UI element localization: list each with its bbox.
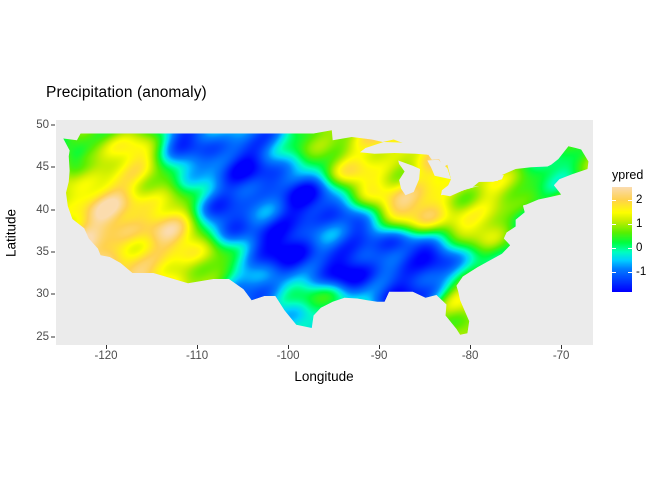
y-tick-label: 50 bbox=[16, 119, 49, 131]
y-tick-label: 40 bbox=[16, 204, 49, 216]
legend-tick-label: 1 bbox=[636, 218, 642, 230]
y-tick-mark bbox=[51, 294, 55, 295]
legend-tick-label: 0 bbox=[636, 242, 642, 254]
x-tick-label: -120 bbox=[95, 350, 118, 362]
legend-tick-mark bbox=[612, 248, 616, 249]
y-axis-title: Latitude bbox=[0, 120, 22, 345]
y-tick-label: 30 bbox=[16, 288, 49, 300]
x-tick-mark bbox=[470, 345, 471, 349]
x-tick-mark bbox=[197, 345, 198, 349]
map-panel bbox=[56, 120, 593, 345]
legend-tick-mark bbox=[628, 248, 632, 249]
x-axis-title-label: Longitude bbox=[294, 369, 353, 384]
y-tick-label: 25 bbox=[16, 331, 49, 343]
legend-tick-mark bbox=[612, 224, 616, 225]
x-tick-label: -110 bbox=[186, 350, 208, 362]
plot-canvas: Precipitation (anomaly) Latitude 2530354… bbox=[0, 0, 672, 480]
x-tick-label: -100 bbox=[277, 350, 300, 362]
x-tick-mark bbox=[561, 345, 562, 349]
legend-tick-label: 2 bbox=[636, 194, 642, 206]
legend-tick-mark bbox=[628, 224, 632, 225]
legend-tick-label: -1 bbox=[636, 266, 646, 278]
y-tick-mark bbox=[51, 125, 55, 126]
legend-title: ypred bbox=[612, 168, 643, 182]
anomaly-heatmap bbox=[56, 120, 593, 345]
y-tick-mark bbox=[51, 336, 55, 337]
y-tick-mark bbox=[51, 209, 55, 210]
x-tick-mark bbox=[288, 345, 289, 349]
legend-colorbar bbox=[612, 187, 632, 292]
legend-tick-mark bbox=[628, 272, 632, 273]
y-tick-label: 45 bbox=[16, 161, 49, 173]
x-tick-label: -90 bbox=[371, 350, 388, 362]
x-tick-label: -70 bbox=[553, 350, 570, 362]
legend-tick-mark bbox=[612, 200, 616, 201]
legend-tick-mark bbox=[612, 272, 616, 273]
legend-tick-mark bbox=[628, 200, 632, 201]
y-tick-mark bbox=[51, 251, 55, 252]
x-tick-mark bbox=[379, 345, 380, 349]
x-tick-label: -80 bbox=[462, 350, 479, 362]
page-title: Precipitation (anomaly) bbox=[46, 84, 207, 102]
y-tick-mark bbox=[51, 167, 55, 168]
x-tick-mark bbox=[106, 345, 107, 349]
y-tick-label: 35 bbox=[16, 246, 49, 258]
